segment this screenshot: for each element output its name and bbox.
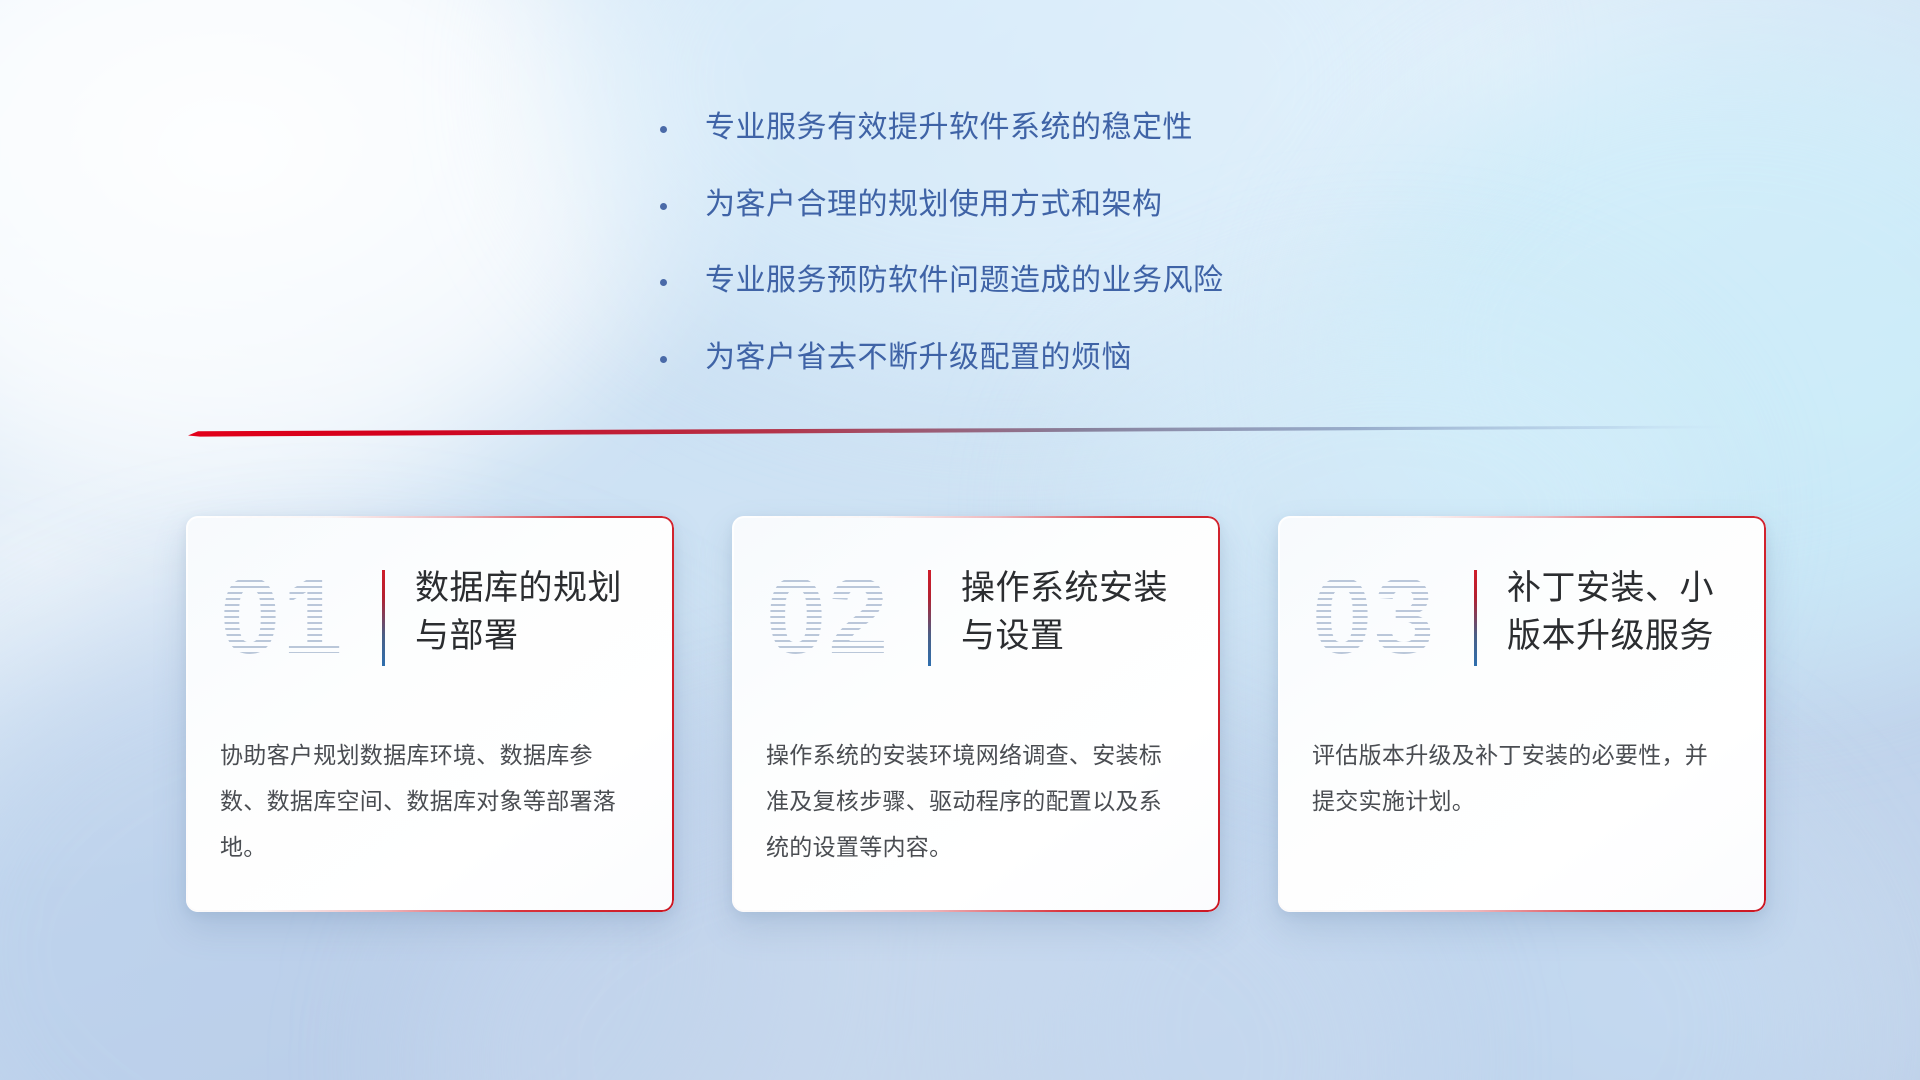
list-item: 专业服务预防软件问题造成的业务风险: [660, 258, 1420, 305]
card-accent-rule: [928, 570, 931, 666]
card-title: 数据库的规划与部署: [415, 560, 634, 661]
card-title: 补丁安装、小版本升级服务: [1507, 560, 1726, 661]
bullet-dot-icon: [660, 126, 667, 133]
card-header: 01 数据库的规划与部署: [220, 560, 634, 686]
card-number: 02: [766, 562, 928, 670]
card-header: 03 补丁安装、小版本升级服务: [1312, 560, 1726, 686]
service-card-list: 01 数据库的规划与部署 协助客户规划数据库环境、数据库参数、数据库空间、数据库…: [186, 516, 1766, 912]
list-item: 为客户合理的规划使用方式和架构: [660, 182, 1420, 229]
bullet-text: 为客户合理的规划使用方式和架构: [705, 182, 1163, 229]
slide-canvas: 专业服务有效提升软件系统的稳定性 为客户合理的规划使用方式和架构 专业服务预防软…: [0, 0, 1920, 1080]
list-item: 为客户省去不断升级配置的烦恼: [660, 335, 1420, 382]
bullet-dot-icon: [660, 356, 667, 363]
service-card[interactable]: 03 补丁安装、小版本升级服务 评估版本升级及补丁安装的必要性，并提交实施计划。: [1278, 516, 1766, 912]
card-number: 03: [1312, 562, 1474, 670]
bullet-text: 专业服务有效提升软件系统的稳定性: [705, 105, 1193, 152]
service-card[interactable]: 01 数据库的规划与部署 协助客户规划数据库环境、数据库参数、数据库空间、数据库…: [186, 516, 674, 912]
list-item: 专业服务有效提升软件系统的稳定性: [660, 105, 1420, 152]
card-header: 02 操作系统安装与设置: [766, 560, 1180, 686]
card-description: 评估版本升级及补丁安装的必要性，并提交实施计划。: [1312, 732, 1726, 824]
card-description: 协助客户规划数据库环境、数据库参数、数据库空间、数据库对象等部署落地。: [220, 732, 634, 870]
divider-shape-icon: [188, 425, 1730, 437]
card-description: 操作系统的安装环境网络调查、安装标准及复核步骤、驱动程序的配置以及系统的设置等内…: [766, 732, 1180, 870]
benefit-bullet-list: 专业服务有效提升软件系统的稳定性 为客户合理的规划使用方式和架构 专业服务预防软…: [660, 105, 1420, 411]
card-number: 01: [220, 562, 382, 670]
section-divider: [188, 425, 1730, 437]
bullet-dot-icon: [660, 279, 667, 286]
bullet-dot-icon: [660, 203, 667, 210]
card-accent-rule: [1474, 570, 1477, 666]
service-card[interactable]: 02 操作系统安装与设置 操作系统的安装环境网络调查、安装标准及复核步骤、驱动程…: [732, 516, 1220, 912]
card-title: 操作系统安装与设置: [961, 560, 1180, 661]
card-accent-rule: [382, 570, 385, 666]
bullet-text: 专业服务预防软件问题造成的业务风险: [705, 258, 1224, 305]
bullet-text: 为客户省去不断升级配置的烦恼: [705, 335, 1132, 382]
